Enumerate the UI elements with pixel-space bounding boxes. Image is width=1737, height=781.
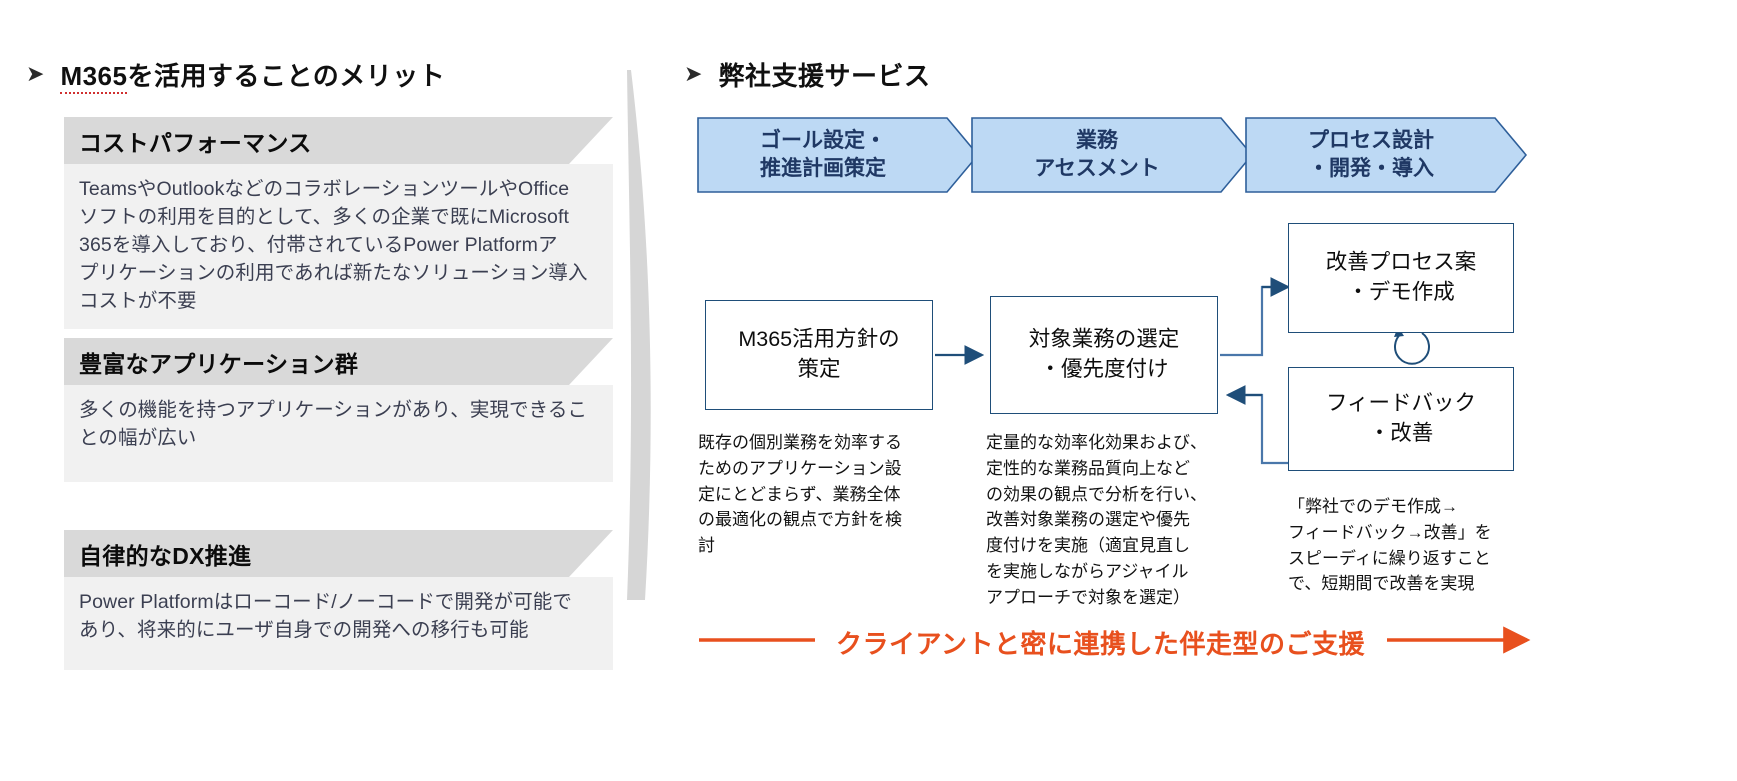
benefit-card-2-header: 豊富なアプリケーション群 (64, 338, 613, 385)
process-chevron-1-label: ゴール設定・ 推進計画策定 (697, 119, 949, 191)
flow-caption-policy: 既存の個別業務を効率する ためのアプリケーション設 定にとどまらず、業務全体 の… (698, 430, 938, 559)
benefit-card-2: 豊富なアプリケーション群 多くの機能を持つアプリケーションがあり、実現できるこ … (64, 338, 613, 482)
process-chevron-row: ゴール設定・ 推進計画策定 業務 アセスメント プロセス設計 ・開発・導入 (697, 117, 1527, 193)
chevron-bullet-icon: ➤ (26, 63, 44, 85)
banner-message: クライアントと密に連携した伴走型のご支援 (836, 624, 1365, 661)
left-heading-rest: を活用することのメリット (127, 61, 445, 91)
benefit-card-1-body: TeamsやOutlookなどのコラボレーションツールやOffice ソフトの利… (64, 164, 613, 329)
flow-box-improvement-demo: 改善プロセス案 ・デモ作成 (1288, 223, 1514, 333)
column-divider-swoosh (627, 70, 667, 600)
flow-caption-target-selection: 定量的な効率化効果および、 定性的な業務品質向上など の効果の観点で分析を行い、… (986, 430, 1226, 611)
process-chevron-2-label: 業務 アセスメント (971, 119, 1223, 191)
flow-box-policy: M365活用方針の 策定 (705, 300, 933, 410)
left-section-heading: ➤ M365を活用することのメリット (26, 56, 445, 93)
benefit-card-3: 自律的なDX推進 Power Platformはローコード/ノーコードで開発が可… (64, 530, 613, 670)
chevron-bullet-icon-right: ➤ (684, 63, 702, 85)
flow-box-target-selection: 対象業務の選定 ・優先度付け (990, 296, 1218, 414)
right-section-heading: ➤ 弊社支援サービス (684, 56, 930, 93)
right-heading-text: 弊社支援サービス (718, 56, 930, 93)
benefit-card-2-title: 豊富なアプリケーション群 (64, 345, 358, 379)
left-heading-spellcheck-word: M365 (60, 61, 127, 94)
left-heading-text: M365を活用することのメリット (60, 56, 445, 93)
benefit-card-2-body: 多くの機能を持つアプリケーションがあり、実現できるこ との幅が広い (64, 385, 613, 482)
process-chevron-3-label: プロセス設計 ・開発・導入 (1245, 119, 1497, 191)
benefit-card-3-body: Power Platformはローコード/ノーコードで開発が可能で あり、将来的… (64, 577, 613, 670)
flow-caption-feedback-loop: 「弊社でのデモ作成→ フィードバック→改善」を スピーディに繰り返すこと で、短… (1288, 494, 1516, 597)
benefit-card-1-title: コストパフォーマンス (64, 124, 312, 158)
flow-box-feedback: フィードバック ・改善 (1288, 367, 1514, 471)
benefit-card-1: コストパフォーマンス TeamsやOutlookなどのコラボレーションツールやO… (64, 117, 613, 329)
benefit-card-3-title: 自律的なDX推進 (64, 537, 251, 571)
benefit-card-1-header: コストパフォーマンス (64, 117, 613, 164)
benefit-card-3-header: 自律的なDX推進 (64, 530, 613, 577)
